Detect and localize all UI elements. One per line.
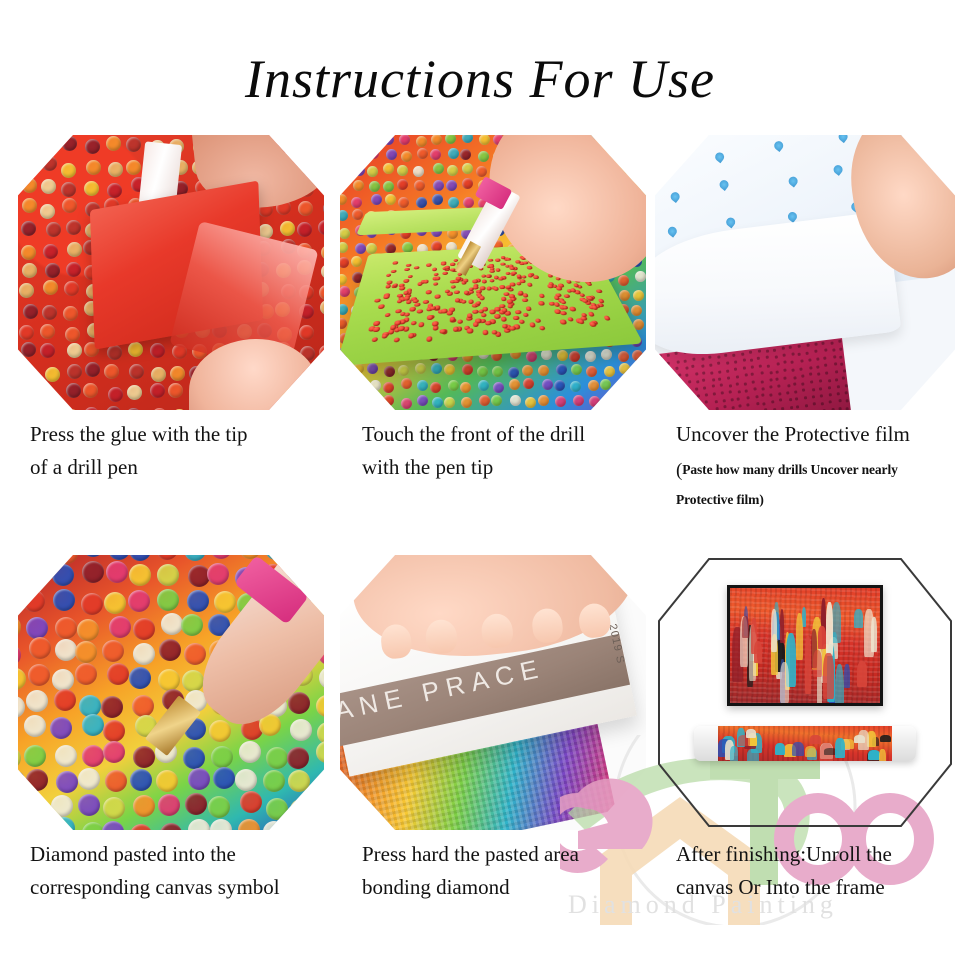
caption-line: of a drill pen bbox=[30, 451, 330, 484]
diamond-pasted-into-canvas-photo bbox=[18, 555, 324, 830]
caption-line: Press hard the pasted area bbox=[362, 838, 662, 871]
step-image-4 bbox=[18, 555, 324, 830]
step-caption-3: Uncover the Protective film (Paste how m… bbox=[676, 418, 960, 513]
step-image-5: ANE PRACE 2019 S bbox=[340, 555, 646, 830]
step-caption-1: Press the glue with the tip of a drill p… bbox=[30, 418, 330, 483]
fingernail bbox=[424, 618, 458, 655]
caption-note-line: (Paste how many drills Uncover nearly bbox=[676, 453, 960, 488]
caption-line: with the pen tip bbox=[362, 451, 662, 484]
painting-artwork bbox=[730, 588, 880, 703]
caption-line: Press the glue with the tip bbox=[30, 418, 330, 451]
caption-note-line: Protective film) bbox=[676, 488, 960, 513]
caption-line: Touch the front of the drill bbox=[362, 418, 662, 451]
step-image-1 bbox=[18, 135, 324, 410]
step-caption-6: After finishing:Unroll the canvas Or Int… bbox=[676, 838, 960, 903]
step-image-3 bbox=[655, 135, 955, 410]
press-hard-pasted-area-photo: ANE PRACE 2019 S bbox=[340, 555, 646, 830]
fingernail bbox=[480, 612, 514, 649]
caption-line: bonding diamond bbox=[362, 871, 662, 904]
step-caption-5: Press hard the pasted area bonding diamo… bbox=[362, 838, 662, 903]
fingernail bbox=[530, 607, 564, 644]
rolled-canvas-artwork bbox=[718, 726, 891, 762]
instructions-page: Instructions For Use Diamond Painting bbox=[0, 0, 960, 960]
caption-note: (Paste how many drills Uncover nearly Pr… bbox=[676, 453, 960, 513]
step-caption-4: Diamond pasted into the corresponding ca… bbox=[30, 838, 330, 903]
rolled-canvas-tube bbox=[694, 726, 916, 762]
touch-front-of-drill-photo bbox=[340, 135, 646, 410]
framed-painting bbox=[727, 585, 883, 706]
step-image-2 bbox=[340, 135, 646, 410]
step-image-6 bbox=[655, 555, 955, 830]
caption-line: canvas Or Into the frame bbox=[676, 871, 960, 904]
caption-line: corresponding canvas symbol bbox=[30, 871, 330, 904]
caption-line: Uncover the Protective film bbox=[676, 418, 960, 451]
caption-line: After finishing:Unroll the bbox=[676, 838, 960, 871]
finished-canvas-frame-photo bbox=[655, 555, 955, 830]
caption-line: Diamond pasted into the bbox=[30, 838, 330, 871]
uncover-protective-film-photo bbox=[655, 135, 955, 410]
page-title: Instructions For Use bbox=[0, 50, 960, 109]
step-caption-2: Touch the front of the drill with the pe… bbox=[362, 418, 662, 483]
press-glue-with-drill-pen-photo bbox=[18, 135, 324, 410]
caption-note-text: Paste how many drills Uncover nearly bbox=[682, 462, 898, 477]
